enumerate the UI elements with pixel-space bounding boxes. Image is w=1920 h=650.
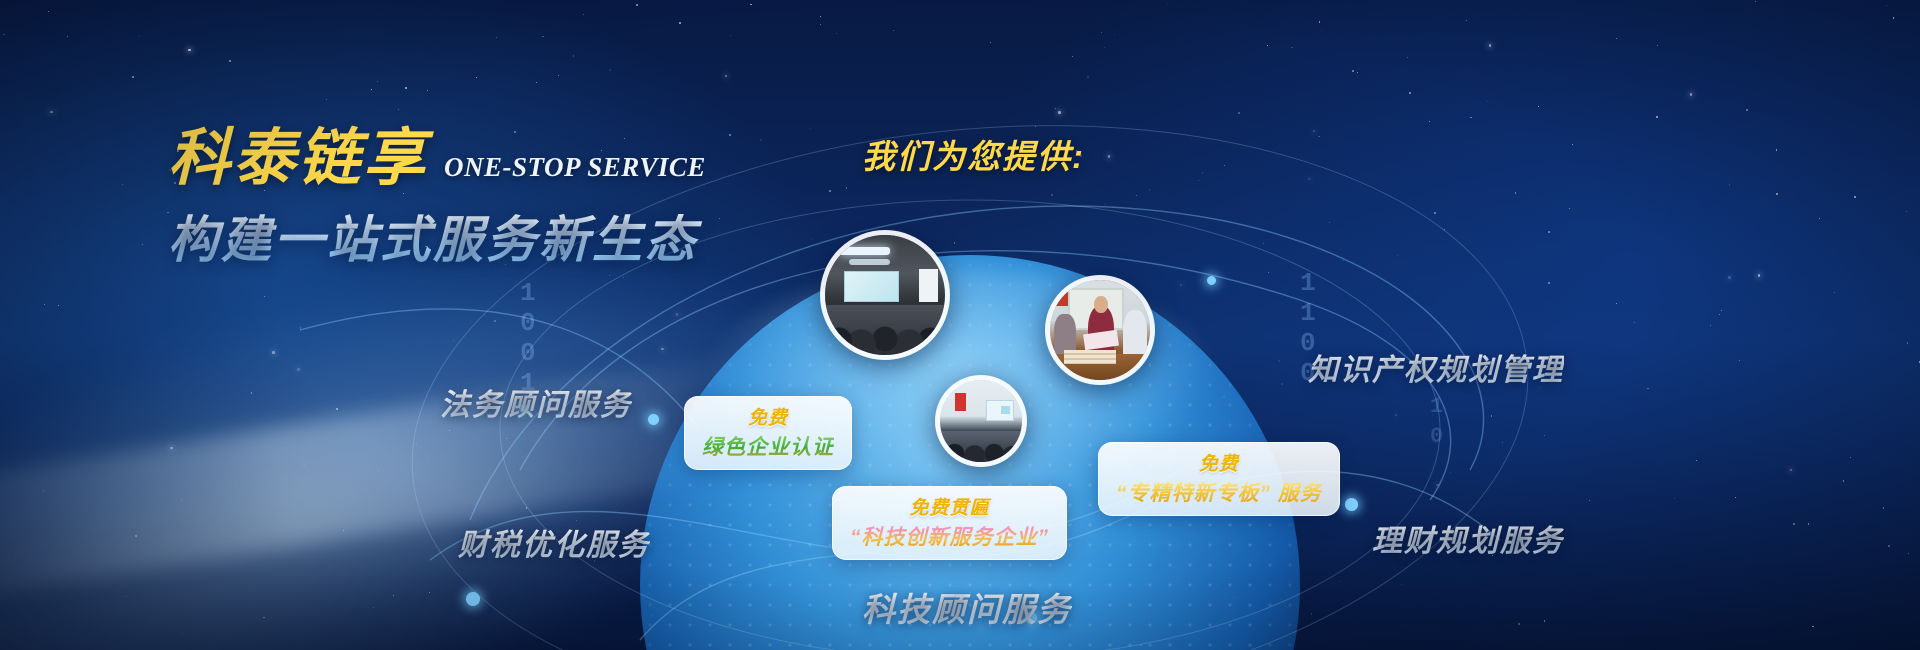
badge-green-enterprise-certification[interactable]: 免费 绿色企业认证 [684,396,852,470]
badge-title: “科技创新服务企业” [850,521,1049,551]
network-node-dot [466,592,480,606]
network-node-dot [1345,498,1358,511]
service-label-tax-optimization[interactable]: 财税优化服务 [458,520,650,564]
lead-text: 我们为您提供: [862,130,1085,178]
network-node-dot [1207,276,1216,285]
photo-meeting-room [935,375,1027,467]
service-label-ip-planning[interactable]: 知识产权规划管理 [1308,345,1564,389]
badge-free-label: 免费 [702,403,834,430]
service-label-legal-advisory[interactable]: 法务顾问服务 [440,380,632,424]
headline-block: 科泰链享 ONE-STOP SERVICE 构建一站式服务新生态 [168,128,788,272]
service-label-wealth-planning[interactable]: 理财规划服务 [1372,516,1564,560]
marketing-banner: 1 0 0 1 1 1 0 0 1 0 科泰链享 ONE-STOP SERVIC… [0,0,1920,650]
photo-classroom-training [820,230,950,360]
service-label-tech-advisory[interactable]: 科技顾问服务 [862,583,1072,631]
badge-tech-innovation-enterprise[interactable]: 免费贯匾 “科技创新服务企业” [832,486,1067,560]
page-title: 科泰链享 [168,128,428,190]
photo-document-review [1045,275,1155,385]
badge-free-label: 免费贯匾 [850,493,1049,520]
badge-free-label: 免费 [1116,449,1322,476]
title-row: 科泰链享 ONE-STOP SERVICE [168,128,788,190]
network-node-dot [648,414,659,425]
badge-title: 绿色企业认证 [702,431,834,461]
page-subtitle: 构建一站式服务新生态 [168,200,788,272]
binary-code-far-right: 1 0 [1430,392,1444,452]
title-english-tagline: ONE-STOP SERVICE [444,152,706,190]
badge-specialized-new-board-service[interactable]: 免费 “专精特新专板” 服务 [1098,442,1340,516]
badge-title: “专精特新专板” 服务 [1116,477,1322,507]
